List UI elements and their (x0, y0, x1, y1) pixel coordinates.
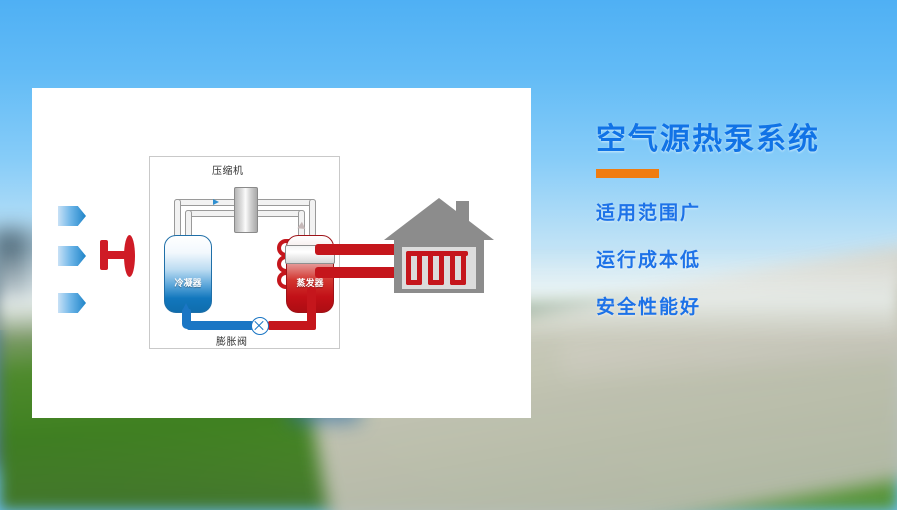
gas-line-right-riser (309, 199, 316, 237)
house-chimney (456, 201, 469, 233)
condenser-unit: 冷凝器 (164, 235, 212, 313)
underfloor-heating-panel (402, 247, 476, 289)
accent-divider (596, 169, 659, 178)
diagram-card: 压缩机 冷凝器 蒸发器 (32, 88, 531, 418)
headline-block: 空气源热泵系统 适用范围广 运行成本低 安全性能好 (596, 120, 896, 319)
label-compressor: 压缩机 (212, 162, 244, 177)
floor-coil-n2 (439, 251, 455, 256)
floor-coil-u2 (428, 280, 444, 285)
return-flow-arrow (318, 268, 325, 276)
page-title: 空气源热泵系统 (596, 120, 896, 160)
hot-flow-arrow (274, 321, 281, 329)
refrigeration-cycle-frame: 压缩机 冷凝器 蒸发器 (149, 156, 340, 349)
liquid-line-horizontal (187, 321, 253, 330)
floor-coil-n1 (417, 251, 433, 256)
slide-canvas: 压缩机 冷凝器 蒸发器 (0, 0, 897, 510)
label-expansion-valve: 膨胀阀 (216, 333, 248, 348)
bullet-item-2: 运行成本低 (596, 245, 896, 272)
compressor-unit (234, 187, 258, 233)
bullet-item-3: 安全性能好 (596, 292, 896, 319)
floor-coil-u1 (406, 280, 422, 285)
floor-coil-top (406, 251, 468, 256)
flow-arrow-into-compressor (213, 199, 219, 205)
house-roof (384, 198, 494, 240)
condenser-label: 冷凝器 (165, 276, 211, 289)
liquid-flow-arrow (183, 303, 189, 309)
floor-coil-u3 (450, 280, 466, 285)
bullet-item-1: 适用范围广 (596, 198, 896, 225)
house-illustration (384, 198, 494, 293)
hot-line-riser (307, 287, 316, 327)
expansion-valve (251, 317, 269, 335)
